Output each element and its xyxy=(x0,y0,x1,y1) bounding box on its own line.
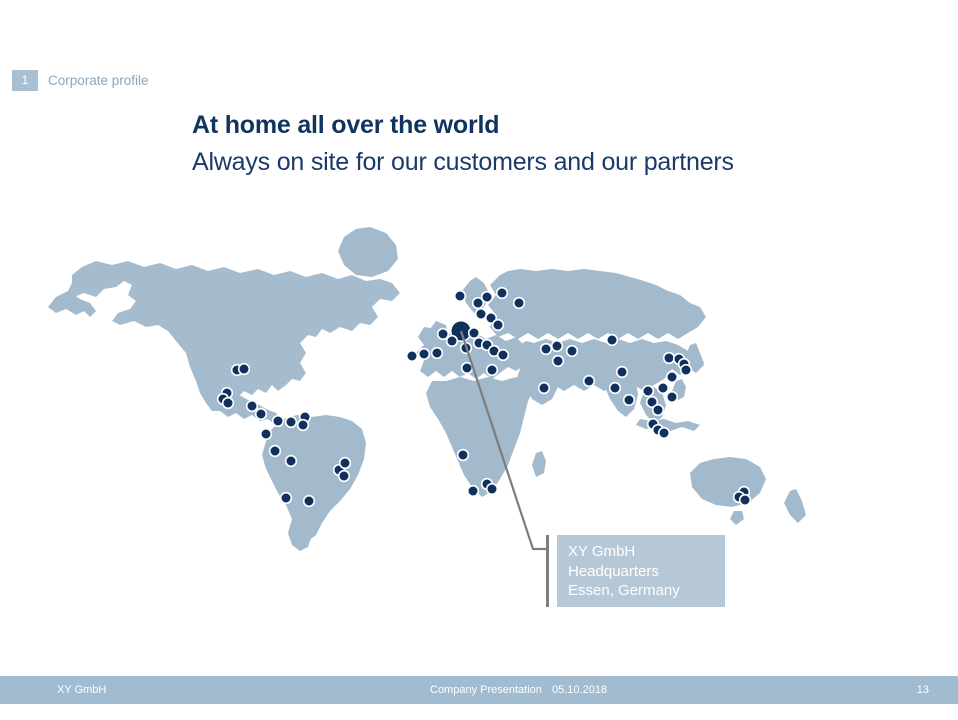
city-marker[interactable]: Georgetown xyxy=(299,421,308,430)
city-marker[interactable]: Lima xyxy=(271,447,280,456)
city-marker[interactable]: Rome xyxy=(463,364,472,373)
hq-callout-accent-bar xyxy=(546,535,549,607)
city-marker[interactable]: Brisbane xyxy=(741,496,750,505)
footer-presentation-title: Company Presentation xyxy=(430,676,542,704)
city-marker[interactable]: Copenhagen xyxy=(477,310,486,319)
city-marker[interactable]: Tehran xyxy=(554,357,563,366)
city-marker[interactable]: Buenos Aires xyxy=(305,497,314,506)
city-marker[interactable]: Rio de Janeiro xyxy=(341,459,350,468)
world-map-figure: Essen (HQ)OsloStockholmHelsinkiSt. Peter… xyxy=(0,185,958,605)
city-marker[interactable]: Quito xyxy=(262,430,271,439)
city-marker[interactable]: Riyadh xyxy=(540,384,549,393)
city-marker[interactable]: Oslo xyxy=(456,292,465,301)
hq-callout-box: XY GmbH Headquarters Essen, Germany xyxy=(557,535,725,607)
hq-callout-text: XY GmbH Headquarters Essen, Germany xyxy=(568,542,680,601)
city-marker[interactable]: Pretoria xyxy=(488,485,497,494)
city-marker[interactable]: Prague xyxy=(470,329,479,338)
city-marker[interactable]: Shanghai xyxy=(668,373,677,382)
city-marker[interactable]: Almaty xyxy=(608,336,617,345)
city-marker[interactable]: Lisbon xyxy=(408,352,417,361)
land-south-america xyxy=(262,415,366,541)
land-north-america xyxy=(68,261,400,407)
section-title-label: Corporate profile xyxy=(48,70,149,91)
city-marker[interactable]: Santiago xyxy=(282,494,291,503)
city-marker[interactable]: Bogota xyxy=(274,417,283,426)
city-marker[interactable]: Guatemala City xyxy=(248,402,257,411)
world-map-svg: Essen (HQ)OsloStockholmHelsinkiSt. Peter… xyxy=(0,185,958,605)
page-title: At home all over the world xyxy=(192,110,932,141)
title-block: At home all over the world Always on sit… xyxy=(192,110,932,179)
land-alaska xyxy=(48,291,96,317)
city-marker[interactable]: Chennai xyxy=(625,396,634,405)
city-marker[interactable]: Tbilisi xyxy=(553,342,562,351)
footer-page-number: 13 xyxy=(917,676,929,704)
city-marker[interactable]: Manila xyxy=(668,393,677,402)
city-marker[interactable]: Beijing xyxy=(665,354,674,363)
land-greenland xyxy=(338,227,398,277)
city-marker[interactable]: Paris xyxy=(448,337,457,346)
slide-header: 1 Corporate profile xyxy=(0,62,958,92)
city-marker[interactable]: Osaka xyxy=(682,366,691,375)
city-marker[interactable]: Curitiba xyxy=(340,472,349,481)
city-marker[interactable]: Baku xyxy=(568,347,577,356)
page-subtitle: Always on site for our customers and our… xyxy=(192,146,932,179)
slide-footer: XY GmbH Company Presentation 05.10.2018 … xyxy=(0,676,958,704)
city-marker[interactable]: Jakarta xyxy=(660,429,669,438)
city-marker[interactable]: Moscow xyxy=(515,299,524,308)
city-marker[interactable]: London xyxy=(439,330,448,339)
city-marker[interactable]: Delhi xyxy=(618,368,627,377)
land-australia xyxy=(690,457,766,507)
city-marker[interactable]: La Paz xyxy=(287,457,296,466)
city-marker[interactable]: San Jose xyxy=(257,410,266,419)
city-marker[interactable]: Caracas xyxy=(287,418,296,427)
city-marker[interactable]: Detroit xyxy=(240,365,249,374)
city-marker[interactable]: Mexico City xyxy=(224,399,233,408)
city-marker[interactable]: Hong Kong xyxy=(659,384,668,393)
city-marker[interactable]: Ho Chi Minh City xyxy=(654,406,663,415)
city-marker[interactable]: Hanoi xyxy=(644,387,653,396)
land-madagascar xyxy=(532,451,546,477)
city-marker[interactable]: Mumbai xyxy=(611,384,620,393)
city-marker[interactable]: Cape Town xyxy=(469,487,478,496)
city-marker[interactable]: Kyiv xyxy=(494,321,503,330)
city-marker[interactable]: Lagos xyxy=(459,451,468,460)
section-number-label: 1 xyxy=(12,70,38,91)
city-marker[interactable]: Madrid xyxy=(420,350,429,359)
city-marker[interactable]: Athens xyxy=(488,366,497,375)
city-marker[interactable]: Istanbul xyxy=(499,351,508,360)
city-marker[interactable]: Stockholm xyxy=(474,299,483,308)
city-marker[interactable]: St. Petersburg xyxy=(498,289,507,298)
land-africa xyxy=(426,377,534,497)
city-marker[interactable]: Ankara xyxy=(542,345,551,354)
footer-company-name: XY GmbH xyxy=(57,676,106,704)
city-marker[interactable]: Dubai xyxy=(585,377,594,386)
land-new-zealand xyxy=(784,489,806,523)
landmass-group xyxy=(48,227,806,551)
city-marker[interactable]: Barcelona xyxy=(433,349,442,358)
footer-date: 05.10.2018 xyxy=(552,676,607,704)
city-marker[interactable]: Helsinki xyxy=(483,293,492,302)
land-tasmania xyxy=(730,511,744,525)
section-number-badge: 1 xyxy=(12,70,38,91)
